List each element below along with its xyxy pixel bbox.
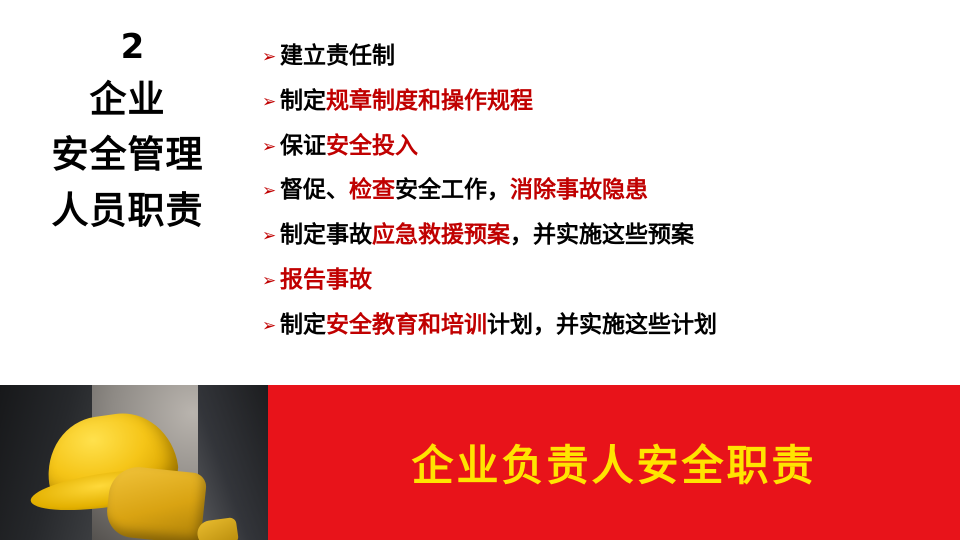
photo-shadow-right — [198, 385, 268, 540]
bullet-text-segment: 建立责任制 — [280, 43, 395, 69]
bullet-item: ➢制定规章制度和操作规程 — [262, 87, 952, 116]
bullet-text: 建立责任制 — [280, 42, 395, 71]
bullet-item: ➢制定事故应急救援预案，并实施这些预案 — [262, 221, 952, 250]
title-line-2: 安全管理 — [52, 127, 204, 183]
bullet-text-segment: 消除事故隐患 — [510, 177, 648, 203]
bullet-arrow-icon: ➢ — [262, 228, 280, 245]
title-line-3: 人员职责 — [52, 183, 204, 239]
bullet-text-segment: 应急救援预案 — [372, 222, 510, 248]
bullet-text-segment: 安全投入 — [326, 133, 418, 159]
bullet-item: ➢督促、检查安全工作，消除事故隐患 — [262, 176, 952, 205]
section-number: 2 — [0, 30, 255, 66]
bullet-text-segment: 规章制度和操作规程 — [326, 88, 533, 114]
bullet-text: 督促、检查安全工作，消除事故隐患 — [280, 176, 648, 205]
bullet-text-segment: 计划，并实施这些计划 — [487, 312, 717, 338]
bullet-item: ➢建立责任制 — [262, 42, 952, 71]
bullet-text-segment: 安全教育和培训 — [326, 312, 487, 338]
bullet-arrow-icon: ➢ — [262, 139, 280, 156]
bullet-text-segment: 检查 — [349, 177, 395, 203]
bullet-item: ➢保证安全投入 — [262, 132, 952, 161]
hard-hat-photo — [0, 385, 268, 540]
bullet-text-segment: ，并实施这些预案 — [510, 222, 694, 248]
bullet-text: 报告事故 — [280, 266, 372, 295]
bullet-text-segment: 报告事故 — [280, 267, 372, 293]
bullet-text-segment: 督促、 — [280, 177, 349, 203]
bullet-arrow-icon: ➢ — [262, 49, 280, 66]
bullet-arrow-icon: ➢ — [262, 183, 280, 200]
bullet-text-segment: 制定事故 — [280, 222, 372, 248]
bullet-text: 保证安全投入 — [280, 132, 418, 161]
bullet-item: ➢报告事故 — [262, 266, 952, 295]
bullet-list: ➢建立责任制➢制定规章制度和操作规程➢保证安全投入➢督促、检查安全工作，消除事故… — [262, 42, 952, 355]
bullet-arrow-icon: ➢ — [262, 273, 280, 290]
slide: 2 企业 安全管理 人员职责 ➢建立责任制➢制定规章制度和操作规程➢保证安全投入… — [0, 0, 960, 540]
bullet-item: ➢制定安全教育和培训计划，并实施这些计划 — [262, 311, 952, 340]
bullet-text-segment: 保证 — [280, 133, 326, 159]
bullet-text: 制定安全教育和培训计划，并实施这些计划 — [280, 311, 717, 340]
bullet-arrow-icon: ➢ — [262, 94, 280, 111]
glove-thumb-icon — [196, 517, 239, 540]
title-line-1: 企业 — [90, 72, 166, 128]
bullet-text-segment: 制定 — [280, 88, 326, 114]
slide-left-title: 2 企业 安全管理 人员职责 — [0, 30, 255, 375]
bullet-text: 制定事故应急救援预案，并实施这些预案 — [280, 221, 694, 250]
band-title-text: 企业负责人安全职责 — [411, 432, 816, 493]
bottom-band: 企业负责人安全职责 — [0, 385, 960, 540]
work-glove-icon — [105, 464, 208, 540]
bullet-arrow-icon: ➢ — [262, 318, 280, 335]
bullet-text-segment: 制定 — [280, 312, 326, 338]
bullet-text-segment: 安全工作， — [395, 177, 510, 203]
band-title: 企业负责人安全职责 — [268, 385, 960, 540]
bullet-text: 制定规章制度和操作规程 — [280, 87, 533, 116]
